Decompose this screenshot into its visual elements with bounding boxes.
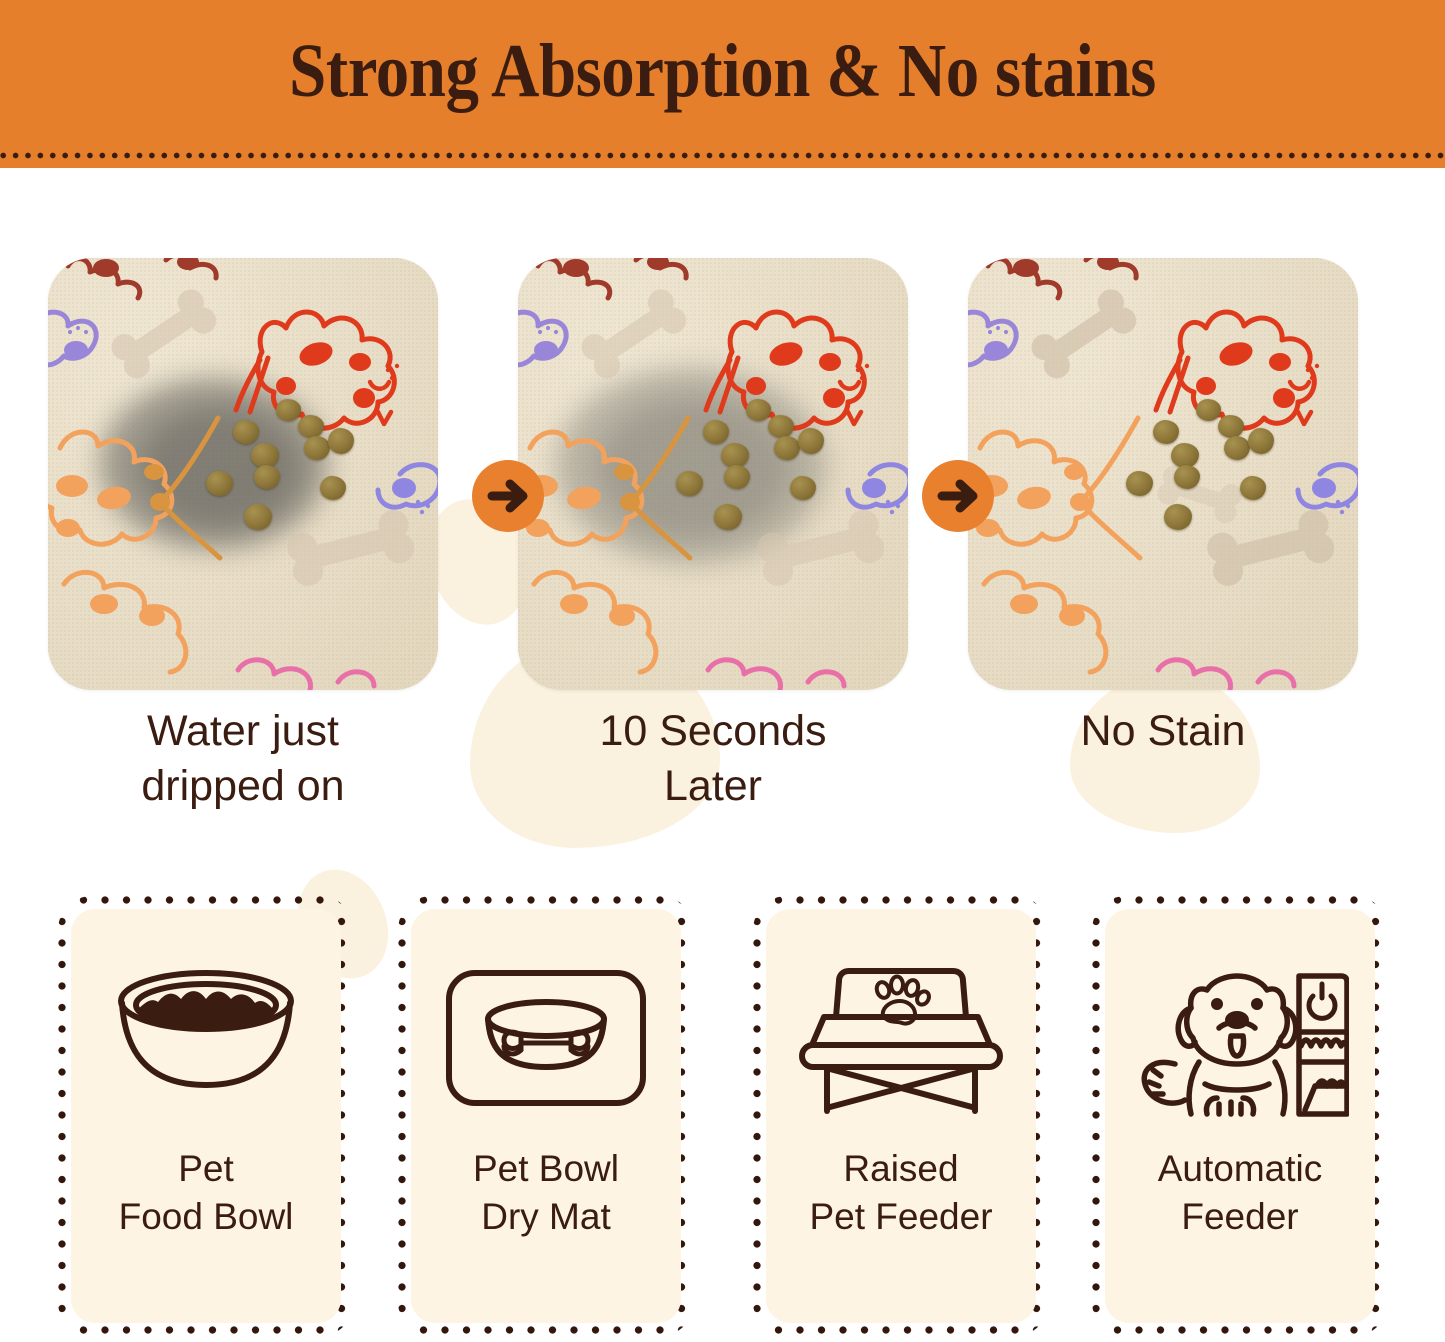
card-icon-wrap xyxy=(1131,945,1349,1131)
kibble-piece xyxy=(233,420,259,444)
card-label-pet-food-bowl: Pet Food Bowl xyxy=(113,1145,300,1241)
card-label-pet-bowl-dry-mat: Pet Bowl Dry Mat xyxy=(467,1145,625,1241)
kibble-piece xyxy=(746,399,771,421)
kibble-piece xyxy=(1164,504,1192,530)
feature-card-pet-food-bowl[interactable]: Pet Food Bowl xyxy=(58,896,354,1336)
label-line-1: Pet xyxy=(178,1148,234,1189)
label-line-1: Pet Bowl xyxy=(473,1148,619,1189)
kibble-piece xyxy=(244,504,272,530)
card-label-raised-pet-feeder: Raised Pet Feeder xyxy=(803,1145,998,1241)
label-line-1: Raised xyxy=(843,1148,958,1189)
kibble-piece xyxy=(798,428,824,454)
card-icon-wrap xyxy=(443,945,649,1131)
caption-line-1: No Stain xyxy=(1081,707,1246,755)
kibble-piece xyxy=(703,420,729,444)
power-icon xyxy=(1309,984,1335,1018)
card-inner: Automatic Feeder xyxy=(1105,909,1375,1323)
pet-bowl-dry-mat-icon xyxy=(443,967,649,1109)
kibble-piece xyxy=(320,476,346,500)
compatible-products-row: Pet Food Bowl xyxy=(0,896,1445,1342)
kibble-piece xyxy=(206,471,233,496)
kibble-piece xyxy=(1224,436,1250,460)
card-icon-wrap xyxy=(103,945,309,1131)
mat-doodle-pattern xyxy=(48,258,438,690)
mat-doodle-pattern xyxy=(968,258,1358,690)
feature-card-automatic-feeder[interactable]: Automatic Feeder xyxy=(1092,896,1388,1336)
kibble-piece xyxy=(298,415,324,438)
caption-line-1: 10 Seconds xyxy=(599,707,826,755)
kibble-piece xyxy=(276,399,301,421)
label-line-2: Feeder xyxy=(1158,1193,1323,1241)
kibble-piece xyxy=(790,476,816,500)
demo-caption-2: 10 Seconds Later xyxy=(518,704,908,814)
card-inner: Pet Bowl Dry Mat xyxy=(411,909,681,1323)
demo-photo-ten-seconds-later xyxy=(518,258,908,690)
pet-food-bowl-icon xyxy=(103,963,309,1113)
card-label-automatic-feeder: Automatic Feeder xyxy=(1152,1145,1329,1241)
raised-pet-feeder-icon xyxy=(794,959,1008,1117)
kibble-piece xyxy=(1218,415,1244,438)
kibble-piece xyxy=(1240,476,1266,500)
kibble-piece xyxy=(304,436,330,460)
mat-doodle-pattern xyxy=(518,258,908,690)
feature-card-pet-bowl-dry-mat[interactable]: Pet Bowl Dry Mat xyxy=(398,896,694,1336)
kibble-piece xyxy=(328,428,354,454)
kibble-piece xyxy=(768,415,794,438)
kibble-piece xyxy=(1153,420,1179,444)
label-line-2: Pet Feeder xyxy=(809,1193,992,1241)
caption-line-2: dripped on xyxy=(141,762,344,810)
kibble-piece xyxy=(714,504,742,530)
kibble-piece xyxy=(1126,471,1153,496)
kibble-piece xyxy=(1196,399,1221,421)
kibble-piece xyxy=(1174,465,1200,489)
automatic-feeder-icon xyxy=(1131,958,1349,1118)
card-icon-wrap xyxy=(794,945,1008,1131)
label-line-1: Automatic xyxy=(1158,1148,1323,1189)
label-line-2: Dry Mat xyxy=(473,1193,619,1241)
feature-card-raised-pet-feeder[interactable]: Raised Pet Feeder xyxy=(753,896,1049,1336)
demo-caption-3: No Stain xyxy=(968,704,1358,759)
kibble-piece xyxy=(724,465,750,489)
demo-caption-1: Water just dripped on xyxy=(48,704,438,814)
arrow-right-icon xyxy=(487,475,529,517)
step-arrow-1 xyxy=(472,460,544,532)
kibble-piece xyxy=(774,436,800,460)
demo-photo-no-stain xyxy=(968,258,1358,690)
kibble-piece xyxy=(254,465,280,489)
card-inner: Raised Pet Feeder xyxy=(766,909,1036,1323)
label-line-2: Food Bowl xyxy=(119,1193,294,1241)
kibble-piece xyxy=(1248,428,1274,454)
demo-photo-water-dripped xyxy=(48,258,438,690)
step-arrow-2 xyxy=(922,460,994,532)
caption-line-2: Later xyxy=(664,762,762,810)
caption-line-1: Water just xyxy=(147,707,339,755)
kibble-piece xyxy=(676,471,703,496)
card-inner: Pet Food Bowl xyxy=(71,909,341,1323)
arrow-right-icon xyxy=(937,475,979,517)
